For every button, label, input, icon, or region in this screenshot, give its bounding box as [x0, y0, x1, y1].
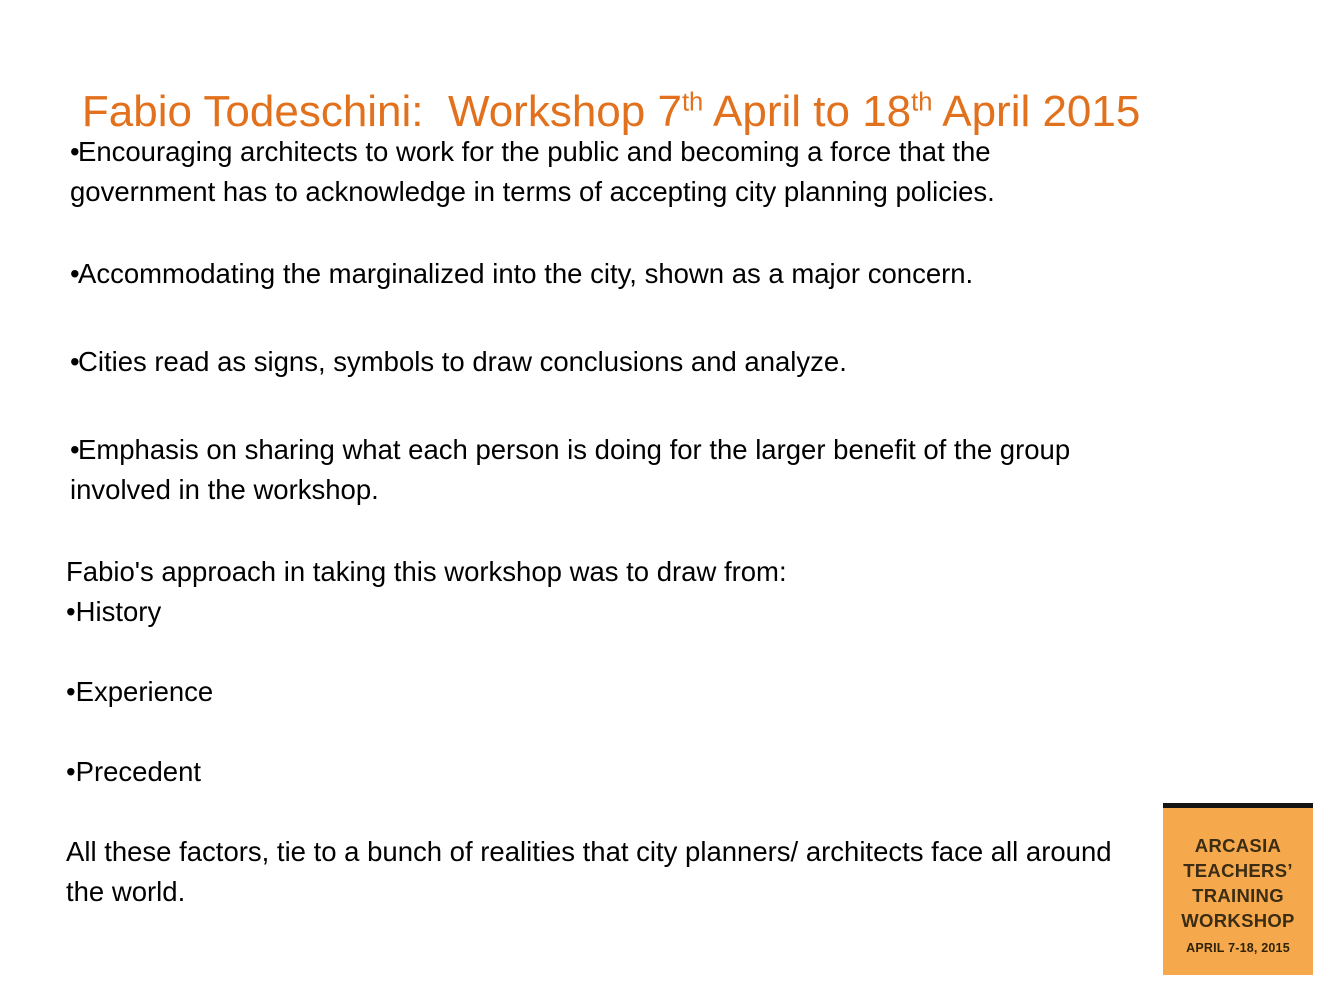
bullet-item: •Precedent	[0, 752, 1344, 792]
bullet-marker-icon: •	[66, 596, 76, 627]
page-title-ordinal-first: th	[682, 88, 703, 116]
bullet-text: Encouraging architects to work for the p…	[70, 136, 995, 207]
bullet-text: History	[76, 596, 162, 627]
closing-paragraph: All these factors, tie to a bunch of rea…	[0, 832, 1344, 912]
bullet-marker-icon: •	[66, 756, 76, 787]
page-title-ordinal-second: th	[911, 88, 932, 116]
bullet-text: Cities read as signs, symbols to draw co…	[78, 346, 847, 377]
slide-canvas: Fabio Todeschini: Workshop 7th April to …	[0, 0, 1344, 1008]
logo-line-training: TRAINING	[1163, 883, 1313, 908]
arcasia-workshop-logo: ARCASIA TEACHERS’ TRAINING WORKSHOP APRI…	[1163, 803, 1313, 975]
bullet-text: Emphasis on sharing what each person is …	[70, 434, 1070, 505]
logo-line-teachers: TEACHERS’	[1163, 858, 1313, 883]
bullet-item: •Cities read as signs, symbols to draw c…	[0, 342, 1344, 382]
bullet-marker-icon: •	[70, 132, 78, 172]
bullet-item: •History	[0, 592, 1344, 632]
spacer	[0, 320, 1344, 342]
bullet-text: Precedent	[76, 756, 201, 787]
logo-date-label: APRIL 7-18, 2015	[1163, 941, 1313, 955]
bullet-text: Experience	[76, 676, 214, 707]
logo-line-workshop: WORKSHOP	[1163, 908, 1313, 933]
spacer	[0, 536, 1344, 552]
bullet-item: •Accommodating the marginalized into the…	[0, 254, 1344, 294]
bullet-item: •Experience	[0, 672, 1344, 712]
spacer	[0, 792, 1344, 832]
spacer	[0, 238, 1344, 254]
page-title-part-3: April 2015	[932, 87, 1140, 136]
page-title-part-1: Fabio Todeschini: Workshop 7	[82, 87, 682, 136]
bullet-marker-icon: •	[66, 676, 76, 707]
slide-body: •Encouraging architects to work for the …	[0, 132, 1344, 912]
bullet-text: Accommodating the marginalized into the …	[78, 258, 973, 289]
approach-intro-line: Fabio's approach in taking this workshop…	[0, 552, 1344, 592]
logo-title-lines: ARCASIA TEACHERS’ TRAINING WORKSHOP	[1163, 833, 1313, 933]
bullet-marker-icon: •	[70, 254, 78, 294]
spacer	[0, 408, 1344, 430]
bullet-item: •Emphasis on sharing what each person is…	[0, 430, 1344, 510]
logo-top-rule	[1163, 803, 1313, 808]
page-title-part-2: April to 18	[703, 87, 911, 136]
bullet-marker-icon: •	[70, 342, 78, 382]
bullet-item: •Encouraging architects to work for the …	[0, 132, 1344, 212]
logo-line-arcasia: ARCASIA	[1163, 833, 1313, 858]
bullet-marker-icon: •	[70, 430, 78, 470]
